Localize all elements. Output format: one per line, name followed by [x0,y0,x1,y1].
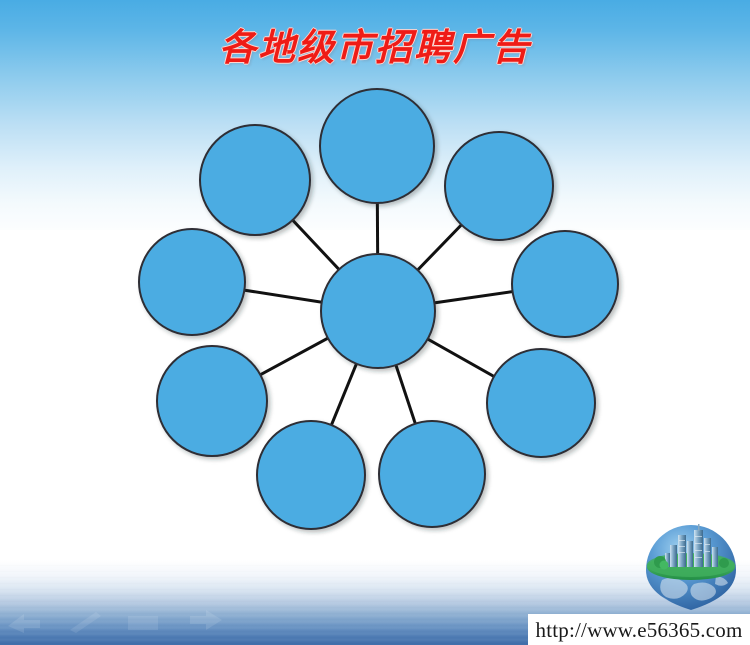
watermark-url-text: http://www.e56365.com [536,618,743,642]
diagram-node-2[interactable] [320,89,434,203]
earth-city-globe-icon [638,522,744,614]
diagram-node-8[interactable] [157,346,267,456]
diagram-node-4[interactable] [512,231,618,337]
watermark-url-bar: http://www.e56365.com [528,614,750,645]
diagram-node-6[interactable] [379,421,485,527]
diagram-node-1[interactable] [200,125,310,235]
globe-logo [638,522,744,614]
diagram-node-7[interactable] [257,421,365,529]
diagram-node-3[interactable] [445,132,553,240]
diagram-node-9[interactable] [139,229,245,335]
diagram-center-node[interactable] [321,254,435,368]
diagram-node-5[interactable] [487,349,595,457]
slide-canvas: 各地级市招聘广告 [0,0,750,645]
page-title: 各地级市招聘广告 [0,26,750,70]
